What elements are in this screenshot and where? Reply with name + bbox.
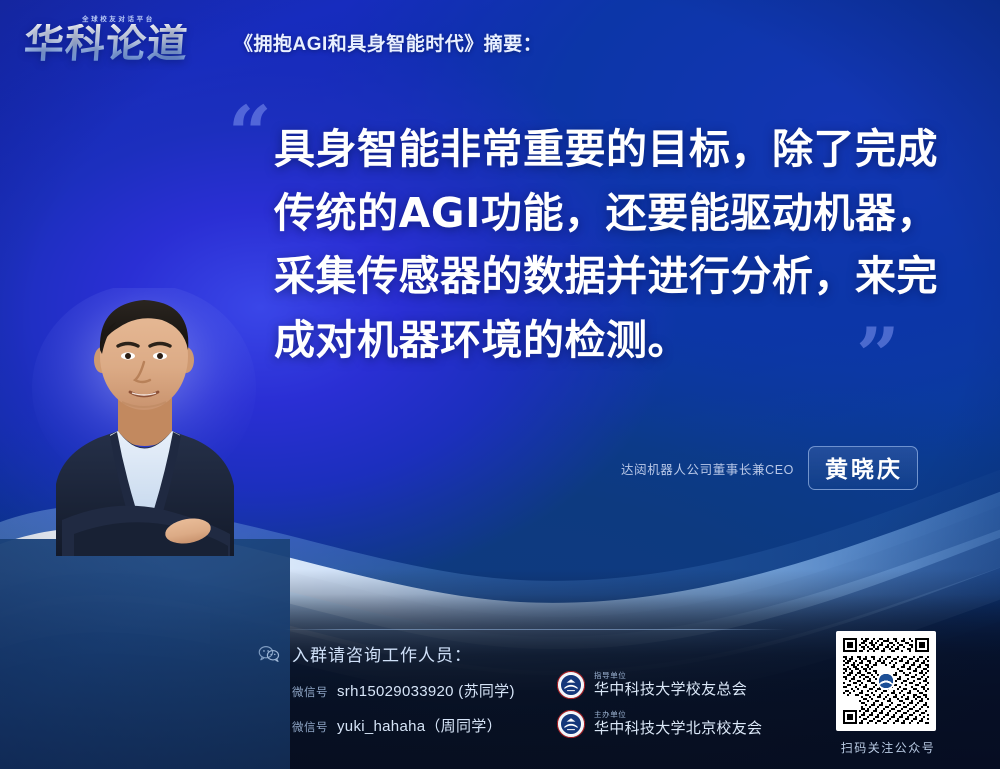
quote-open-mark: “ xyxy=(228,96,272,172)
header: 全球校友对话平台 华科论道 《拥抱AGI和具身智能时代》摘要： xyxy=(24,14,542,64)
hust-seal-icon xyxy=(556,709,586,739)
footer-divider xyxy=(285,629,785,630)
organization-kind: 指导单位 xyxy=(594,672,747,680)
contact-title: 入群请咨询工作人员： xyxy=(292,641,472,666)
organizations-block: 指导单位 华中科技大学校友总会 主办单位 华中科技大学北京校友会 xyxy=(556,670,762,748)
organization-row: 主办单位 华中科技大学北京校友会 xyxy=(556,709,762,739)
quote-close-mark: ” xyxy=(856,318,900,394)
qr-code-icon[interactable] xyxy=(836,631,936,731)
logo-wordmark: 华科论道 xyxy=(23,24,222,64)
quote-text: 具身智能非常重要的目标，除了完成传统的AGI功能，还要能驱动机器，采集传感器的数… xyxy=(274,118,938,372)
qr-block: 扫码关注公众号 xyxy=(836,631,940,756)
wechat-label: 微信号 xyxy=(292,684,328,700)
page-title: 《拥抱AGI和具身智能时代》摘要： xyxy=(234,29,542,64)
organization-kind: 主办单位 xyxy=(594,711,762,719)
speaker-portrait xyxy=(22,288,272,556)
hust-seal-icon xyxy=(556,670,586,700)
brand-logo: 全球校友对话平台 华科论道 xyxy=(24,14,220,64)
organization-name: 华中科技大学校友总会 xyxy=(594,682,747,698)
organization-name: 华中科技大学北京校友会 xyxy=(594,721,762,737)
qr-caption: 扫码关注公众号 xyxy=(836,739,940,756)
attribution: 达闼机器人公司董事长兼CEO 黄晓庆 xyxy=(621,446,918,490)
wechat-id: yuki_hahaha（周同学） xyxy=(337,715,502,736)
wechat-icon xyxy=(258,645,280,663)
organization-row: 指导单位 华中科技大学校友总会 xyxy=(556,670,762,700)
speaker-name: 黄晓庆 xyxy=(808,446,918,490)
wechat-id: srh15029033920 (苏同学) xyxy=(337,680,515,701)
poster-canvas: 全球校友对话平台 华科论道 《拥抱AGI和具身智能时代》摘要： “ 具身智能非常… xyxy=(0,0,1000,769)
wechat-label: 微信号 xyxy=(292,719,328,735)
speaker-role: 达闼机器人公司董事长兼CEO xyxy=(621,459,794,478)
